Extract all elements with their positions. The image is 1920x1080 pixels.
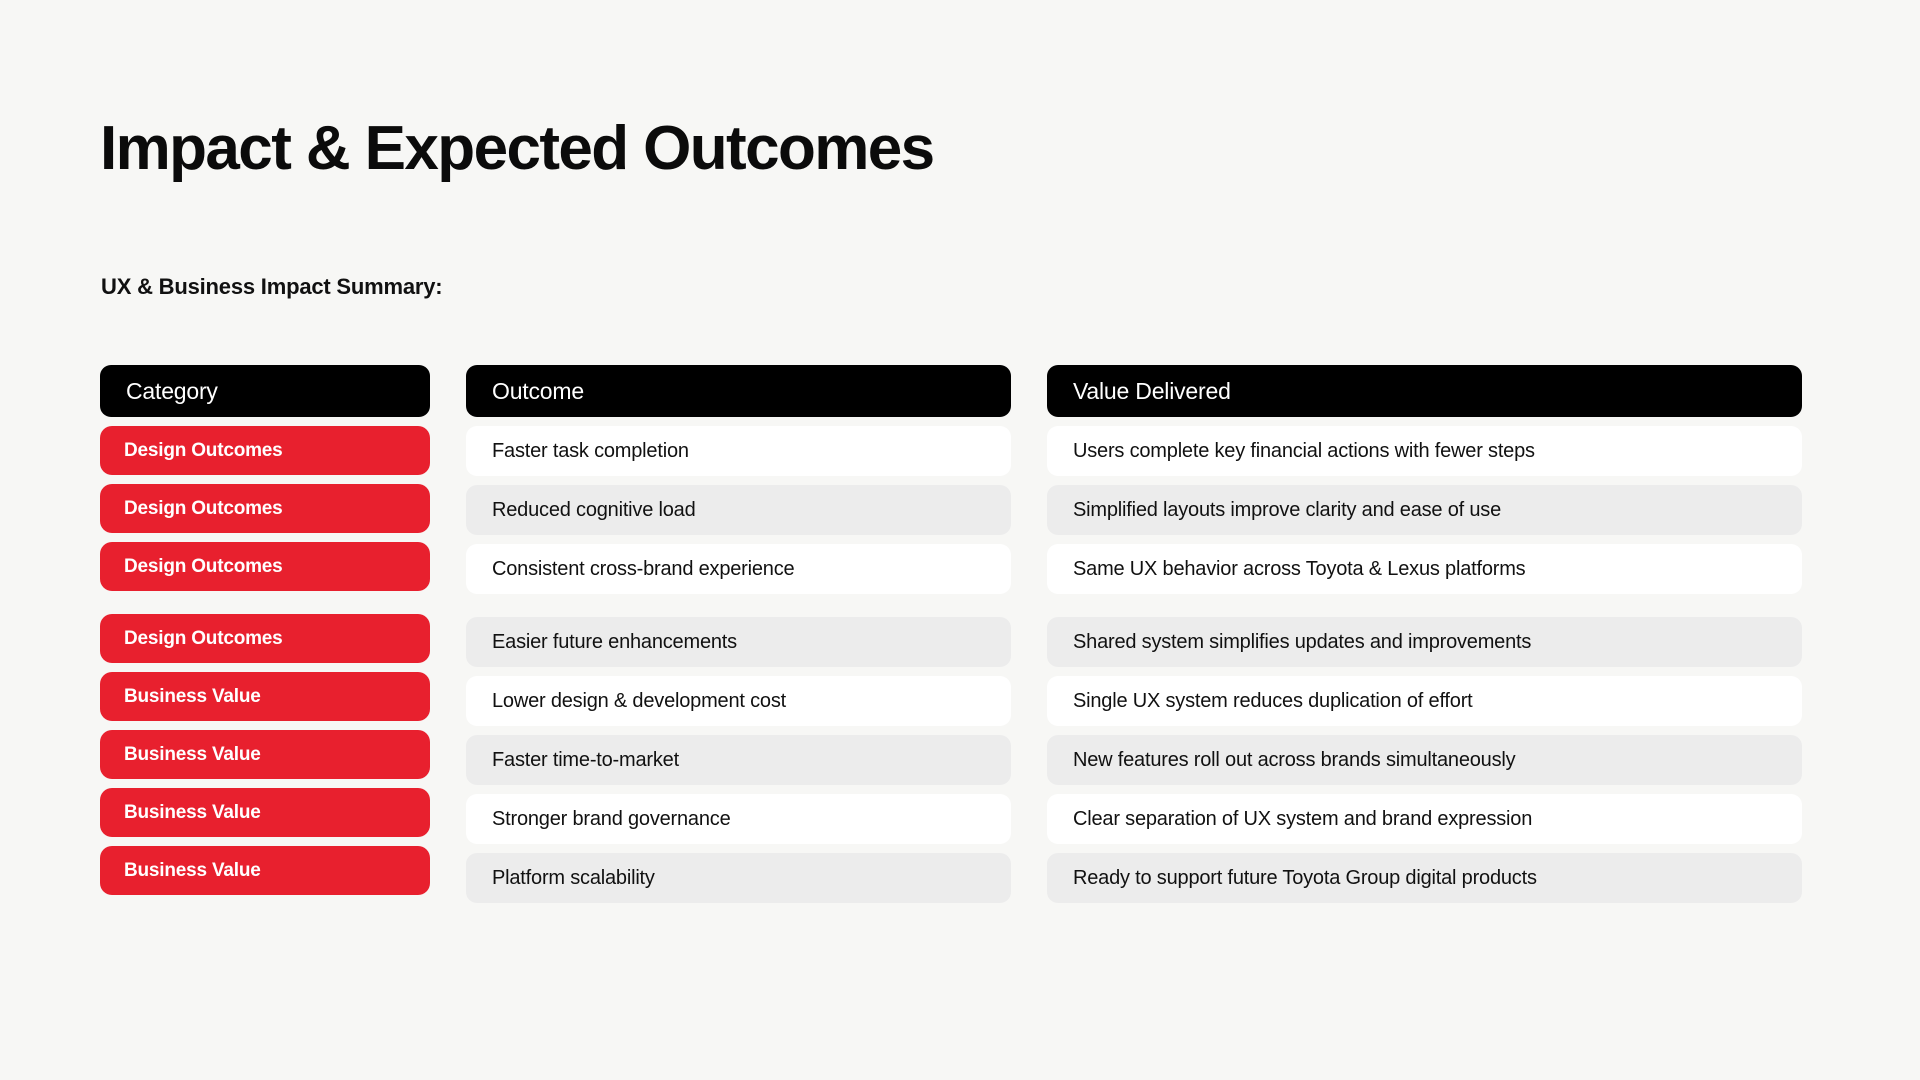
column-header-outcome: Outcome (466, 365, 1011, 417)
column-body-value-delivered: Users complete key financial actions wit… (1047, 426, 1802, 903)
column-value-delivered: Value Delivered Users complete key finan… (1047, 365, 1802, 903)
column-header-category: Category (100, 365, 430, 417)
table-cell-value: Simplified layouts improve clarity and e… (1047, 485, 1802, 535)
table-cell-value: Same UX behavior across Toyota & Lexus p… (1047, 544, 1802, 594)
table-cell-category: Business Value (100, 788, 430, 837)
table-cell-category: Design Outcomes (100, 542, 430, 591)
slide-canvas: Impact & Expected Outcomes UX & Business… (0, 0, 1920, 1080)
table-cell-outcome: Easier future enhancements (466, 617, 1011, 667)
table-cell-value: Single UX system reduces duplication of … (1047, 676, 1802, 726)
table-cell-outcome: Consistent cross-brand experience (466, 544, 1011, 594)
table-cell-outcome: Lower design & development cost (466, 676, 1011, 726)
table-cell-outcome: Stronger brand governance (466, 794, 1011, 844)
column-header-value-delivered: Value Delivered (1047, 365, 1802, 417)
table-cell-value: Ready to support future Toyota Group dig… (1047, 853, 1802, 903)
table-cell-category: Business Value (100, 846, 430, 895)
table-cell-category: Design Outcomes (100, 614, 430, 663)
table-cell-value: Clear separation of UX system and brand … (1047, 794, 1802, 844)
table-cell-category: Design Outcomes (100, 426, 430, 475)
section-subtitle: UX & Business Impact Summary: (101, 274, 442, 300)
column-body-category: Design OutcomesDesign OutcomesDesign Out… (100, 426, 430, 895)
table-cell-value: New features roll out across brands simu… (1047, 735, 1802, 785)
column-body-outcome: Faster task completionReduced cognitive … (466, 426, 1011, 903)
table-cell-value: Shared system simplifies updates and imp… (1047, 617, 1802, 667)
table-cell-value: Users complete key financial actions wit… (1047, 426, 1802, 476)
table-cell-category: Design Outcomes (100, 484, 430, 533)
table-cell-category: Business Value (100, 672, 430, 721)
page-title: Impact & Expected Outcomes (100, 118, 934, 180)
table-cell-outcome: Reduced cognitive load (466, 485, 1011, 535)
table-cell-outcome: Faster task completion (466, 426, 1011, 476)
table-cell-outcome: Faster time-to-market (466, 735, 1011, 785)
table-cell-category: Business Value (100, 730, 430, 779)
table-cell-outcome: Platform scalability (466, 853, 1011, 903)
column-category: Category Design OutcomesDesign OutcomesD… (100, 365, 430, 895)
column-outcome: Outcome Faster task completionReduced co… (466, 365, 1011, 903)
impact-summary-table: Category Design OutcomesDesign OutcomesD… (100, 365, 1802, 903)
